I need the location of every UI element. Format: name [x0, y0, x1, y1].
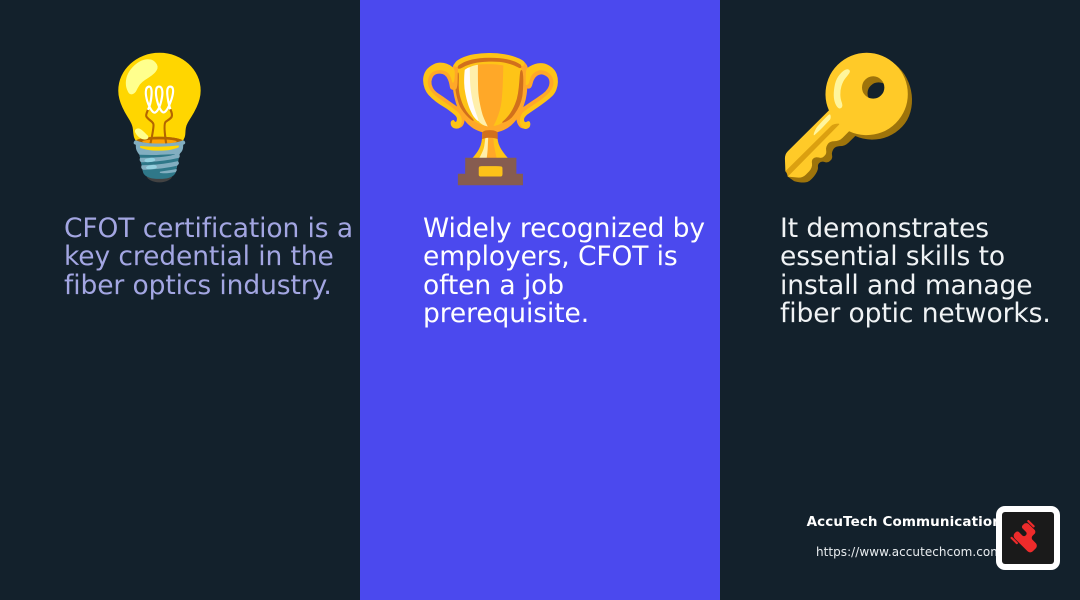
panel-three-text: It demonstrates essential skills to inst… — [780, 215, 1070, 329]
key-icon: 🔑 — [775, 58, 922, 176]
branding-block: AccuTech Communication https://www.accut… — [750, 506, 1080, 592]
company-name: AccuTech Communication — [750, 514, 1002, 530]
trophy-icon: 🏆 — [415, 58, 567, 180]
panel-two-text: Widely recognized by employers, CFOT is … — [423, 215, 713, 329]
company-url[interactable]: https://www.accutechcom.com — [750, 545, 1002, 559]
telephone-receiver-icon — [1010, 520, 1046, 556]
logo-tile — [1002, 512, 1054, 564]
infographic-canvas: 💡 CFOT certification is a key credential… — [0, 0, 1080, 600]
company-logo[interactable] — [996, 506, 1060, 570]
panel-three: 🔑 It demonstrates essential skills to in… — [720, 0, 1080, 600]
panel-one-text: CFOT certification is a key credential i… — [64, 215, 354, 300]
branding-text: AccuTech Communication https://www.accut… — [750, 514, 1002, 559]
panel-two: 🏆 Widely recognized by employers, CFOT i… — [360, 0, 720, 600]
panel-one: 💡 CFOT certification is a key credential… — [0, 0, 360, 600]
light-bulb-icon: 💡 — [86, 58, 233, 176]
